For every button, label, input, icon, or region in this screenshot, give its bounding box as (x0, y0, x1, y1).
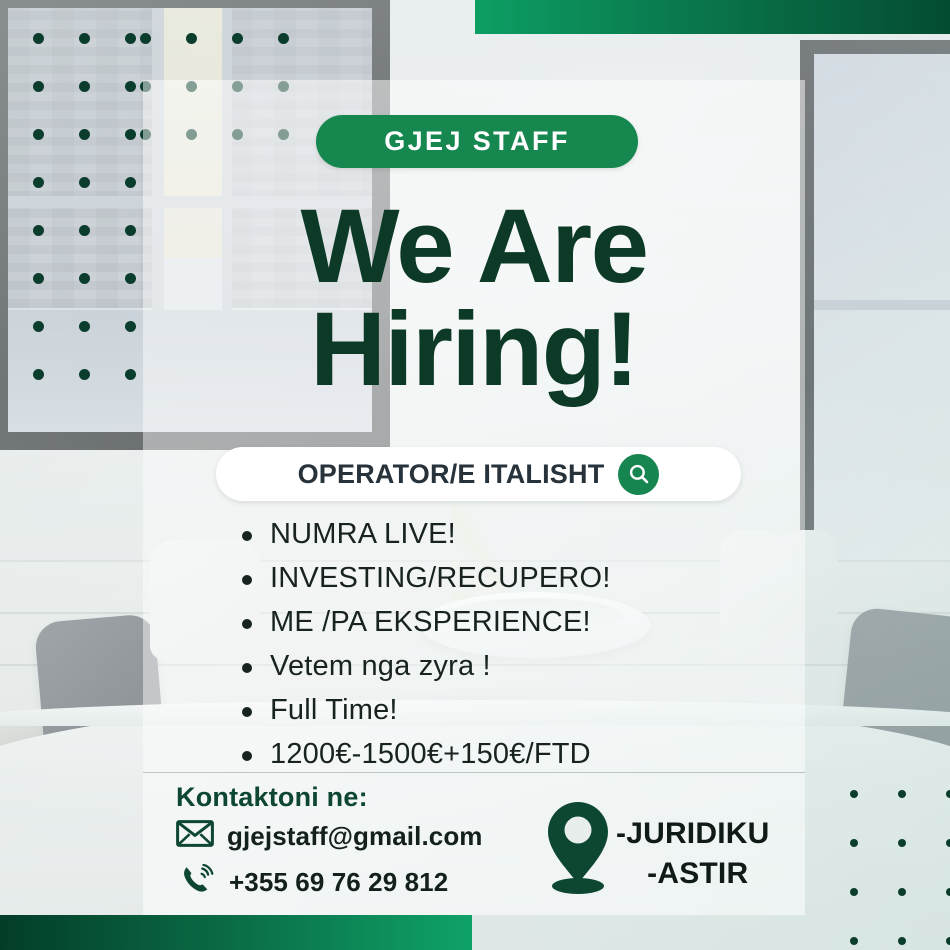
envelope-icon (176, 820, 214, 852)
bottom-accent-bar (0, 915, 472, 950)
list-item: INVESTING/RECUPERO! (240, 556, 800, 600)
list-item: Full Time! (240, 688, 800, 732)
company-badge-label: GJEJ STAFF (384, 126, 570, 157)
headline-line-1: We Are (301, 188, 648, 305)
dot-grid-bottom-right (850, 790, 950, 945)
location-line-2: -ASTIR (616, 854, 769, 894)
section-divider (143, 772, 805, 773)
hiring-poster: GJEJ STAFF We Are Hiring! OPERATOR/E ITA… (0, 0, 950, 950)
role-search-bar[interactable]: OPERATOR/E ITALISHT (216, 447, 741, 501)
list-item: 1200€-1500€+150€/FTD (240, 732, 800, 776)
contact-phone-row[interactable]: +355 69 76 29 812 (182, 864, 483, 901)
contact-email: gjejstaff@gmail.com (227, 821, 483, 852)
phone-icon (182, 864, 216, 901)
location-section: -JURIDIKU -ASTIR (540, 800, 769, 901)
list-item: NUMRA LIVE! (240, 512, 800, 556)
map-pin-icon (540, 800, 616, 901)
headline-line-2: Hiring! (143, 299, 805, 402)
company-badge: GJEJ STAFF (316, 115, 638, 168)
requirements-list: NUMRA LIVE! INVESTING/RECUPERO! ME /PA E… (240, 512, 800, 776)
contact-heading: Kontaktoni ne: (176, 782, 483, 813)
contact-email-row[interactable]: gjejstaff@gmail.com (176, 820, 483, 852)
list-item: Vetem nga zyra ! (240, 644, 800, 688)
location-line-1: -JURIDIKU (616, 814, 769, 854)
dot-grid-top-left-primary (33, 33, 136, 380)
location-text: -JURIDIKU -ASTIR (616, 814, 769, 894)
contact-section: Kontaktoni ne: gjejstaff@gmail.com (176, 782, 483, 901)
top-accent-bar (475, 0, 950, 34)
page-title: We Are Hiring! (143, 196, 805, 402)
list-item: ME /PA EKSPERIENCE! (240, 600, 800, 644)
role-title: OPERATOR/E ITALISHT (298, 459, 605, 490)
contact-phone: +355 69 76 29 812 (229, 867, 448, 898)
search-icon[interactable] (618, 454, 659, 495)
